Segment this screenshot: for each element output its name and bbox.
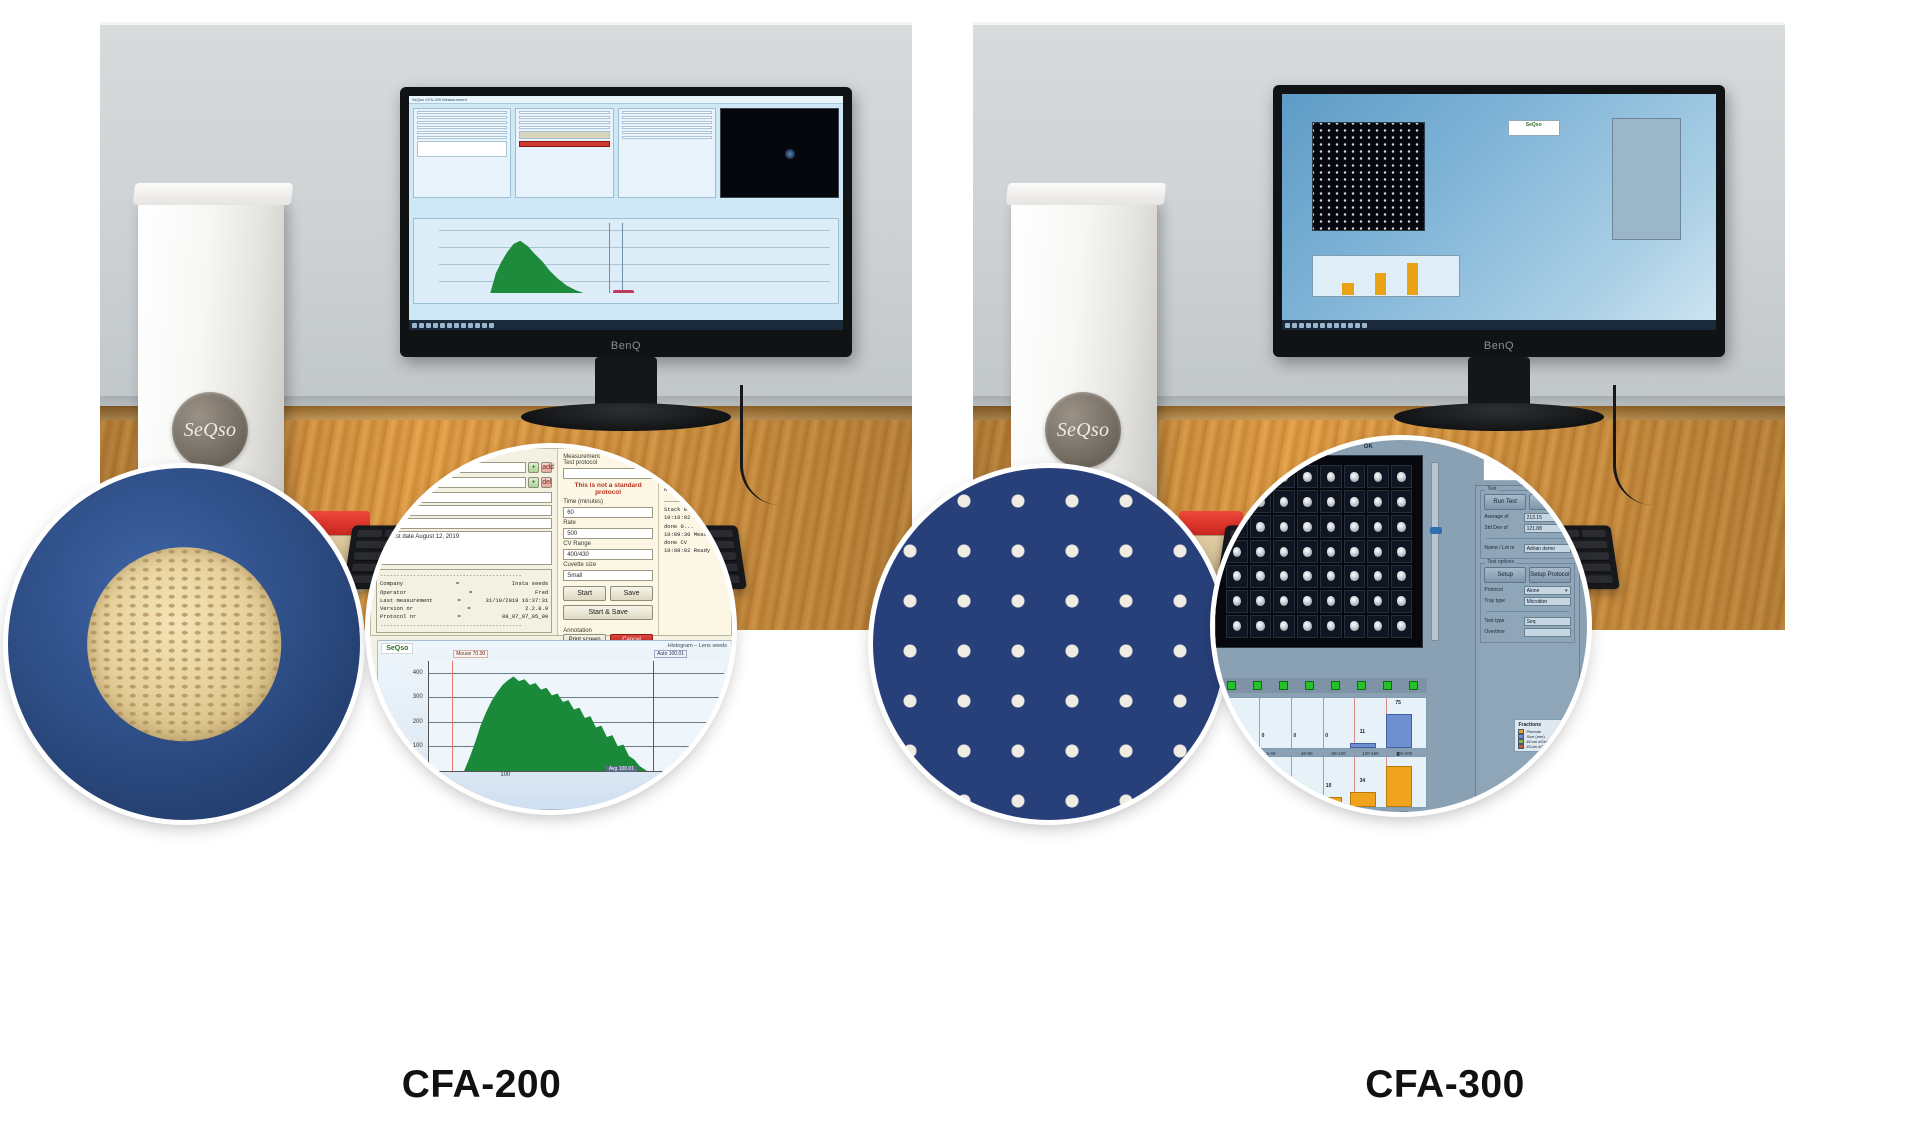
- remove-icon[interactable]: add: [541, 462, 552, 473]
- status-key: Company: [380, 580, 403, 588]
- status-sep: =: [457, 613, 460, 621]
- rate-field[interactable]: 500: [563, 528, 653, 539]
- status-value: Insta seeds: [512, 580, 548, 588]
- average-label: Average of: [1484, 514, 1520, 520]
- average-row: Average of 213.15: [1484, 513, 1570, 522]
- status-bar-line: 10:09:30 Measure done CV: [664, 531, 726, 548]
- status-sep: =: [457, 597, 460, 605]
- size-distribution-chart: 0 0 0 11 75 0 2-40 40-80 80-120 120-160 …: [1226, 697, 1427, 749]
- status-led: [1253, 681, 1262, 690]
- status-row: Last measurement = 31/10/2019 16:37:31: [380, 597, 548, 605]
- seqso-logo-icon: SeQso: [1483, 447, 1580, 480]
- monitor-screen: SeQso CFA-200 Measurement: [409, 96, 843, 330]
- average-annotation: Avg 100.01: [606, 766, 637, 772]
- monitor-cable: [740, 385, 870, 505]
- y-tick: 400: [413, 670, 423, 676]
- overtime-label: Overtime: [1484, 629, 1520, 635]
- chart-title: Histogram – Lens seeds: [668, 643, 727, 649]
- operator-stepper-row[interactable]: Fred + del: [376, 475, 552, 490]
- time-label: Time (minutes): [563, 499, 653, 505]
- ok-label: OK: [1364, 444, 1373, 450]
- mouse-cursor-marker[interactable]: Mouse 70.00: [452, 661, 453, 771]
- status-key: Protocol nr: [380, 613, 416, 621]
- y-tick: 100: [413, 743, 423, 749]
- test-group: Test Run Test Repeat Average of 213.15 S…: [1480, 490, 1574, 559]
- protocol-label: Protocol: [1484, 587, 1520, 593]
- group-divider: [1486, 538, 1568, 539]
- well-cell-grid[interactable]: [1226, 465, 1412, 637]
- germination-distribution-chart: 2 7 10 34 8 0-2 2-4 4-8 8-11 11-20 >20: [1226, 756, 1427, 808]
- overtime-row: Overtime: [1484, 628, 1570, 637]
- overtime-field[interactable]: [1524, 628, 1571, 637]
- inset-tray-closeup-cfa-300: [873, 468, 1225, 820]
- y-axis-title: Number: [386, 714, 392, 735]
- monitor-cable: [1613, 385, 1743, 505]
- cv-range-field[interactable]: 400/430: [563, 549, 653, 560]
- monitor-cfa-200: SeQso CFA-200 Measurement: [400, 87, 852, 357]
- bar-value-label: 11: [1360, 729, 1365, 735]
- caption-cfa-200: CFA-200: [0, 1063, 963, 1107]
- software-screen-cfa-200[interactable]: SeQso CFA-200 Measurement: [409, 96, 843, 330]
- bar: [1283, 804, 1309, 807]
- company-field[interactable]: Insta seeds: [376, 462, 526, 473]
- stddev-label: Std Dev of: [1484, 525, 1520, 531]
- x-tick: 4-8: [1303, 810, 1310, 812]
- add-row-icon[interactable]: +: [528, 477, 539, 488]
- monitor-screen: SeQso: [1282, 94, 1716, 330]
- inset-software-closeup-cfa-200: Sample Insta seeds + add Fred + del LEN …: [370, 448, 732, 810]
- test-protocol-label: Test protocol: [563, 460, 653, 466]
- monitor-cfa-300: SeQso BenQ: [1273, 85, 1725, 357]
- protocol-warning: This is not a standard protocol: [563, 482, 653, 496]
- brand-badge-label: SeQso: [184, 419, 237, 442]
- bar-value-label: 0: [1325, 733, 1328, 739]
- setup-button[interactable]: Setup: [1484, 567, 1526, 583]
- info-lines: Avg 4 Min CV Max CV Number: [664, 460, 726, 495]
- status-sep: =: [456, 580, 459, 588]
- status-led: [1279, 681, 1288, 690]
- bar-value-label: 0: [1293, 733, 1296, 739]
- rate-label: Rate: [563, 520, 653, 526]
- protocol-row: Protocol Alone: [1484, 586, 1570, 595]
- cv-range-label: CV Range: [563, 541, 653, 547]
- x-tick: >20: [1400, 810, 1408, 812]
- status-led: [1409, 681, 1418, 690]
- status-row: Operator = Fred: [380, 589, 548, 597]
- seqso-logo-icon: SeQso: [1508, 120, 1560, 137]
- y-tick: 200: [413, 719, 423, 725]
- status-summary-block: ----------------------------------------…: [376, 569, 552, 633]
- legend-title: Fractions: [1518, 722, 1573, 728]
- y-tick: 300: [413, 694, 423, 700]
- control-panel[interactable]: [1612, 118, 1681, 241]
- start-button[interactable]: Start: [563, 586, 606, 601]
- auto-threshold-marker[interactable]: Auto 100.01: [653, 661, 654, 771]
- bar-value-label: 2: [1262, 792, 1265, 798]
- zoom-slider[interactable]: [1431, 462, 1439, 641]
- status-value: 2.2.8.9: [525, 605, 548, 613]
- info-line: Avg 4: [664, 461, 726, 469]
- tray-type-field[interactable]: Microtiter: [1524, 597, 1571, 606]
- app-histogram: [413, 218, 839, 304]
- app-measurement-card[interactable]: [515, 108, 613, 198]
- software-form: Sample Insta seeds + add Fred + del LEN …: [370, 448, 732, 636]
- status-led: [1331, 681, 1340, 690]
- delete-row-icon[interactable]: del: [541, 477, 552, 488]
- app-sample-card[interactable]: [413, 108, 511, 198]
- monitor-foot: [1394, 403, 1604, 431]
- figure-root: SeQso SeQso CFA-200 Measurement: [0, 0, 1927, 1135]
- test-protocol-select[interactable]: [563, 468, 653, 479]
- group-divider: [1486, 611, 1568, 612]
- status-sep: =: [469, 589, 472, 597]
- histogram-plot: 400 300 200 100 Mouse 70.00 Auto 100.01 …: [428, 661, 724, 772]
- windows-taskbar[interactable]: [1282, 320, 1716, 330]
- variety-field[interactable]: LEN: [376, 492, 552, 503]
- well-thumbnail-grid[interactable]: [1312, 122, 1425, 231]
- test-control-panel: Test Run Test Repeat Average of 213.15 S…: [1475, 485, 1579, 805]
- start-and-save-button[interactable]: Start & Save: [563, 605, 653, 620]
- camera-preview: [720, 108, 839, 198]
- brand-badge-label: SeQso: [1057, 419, 1110, 442]
- status-led-strip: [1219, 678, 1427, 693]
- status-key: Version nr: [380, 605, 413, 613]
- status-sep: =: [467, 605, 470, 613]
- histogram-outlier-series: [691, 766, 718, 771]
- status-bar-line: 10:10:02 Measure done 0...: [664, 514, 726, 531]
- windows-taskbar[interactable]: [409, 320, 843, 330]
- test-type-label: Test type: [1484, 618, 1520, 624]
- setup-button-row: Setup Setup Protocol: [1484, 567, 1570, 583]
- status-value: 08_07_07_05_09: [502, 613, 548, 621]
- bar: [1386, 766, 1412, 807]
- x-tick: 100: [500, 772, 510, 778]
- status-bar-line: Stack 00: [664, 506, 726, 514]
- bar: [1386, 714, 1412, 748]
- monitor-foot: [521, 403, 731, 431]
- slider-thumb[interactable]: [1430, 527, 1442, 534]
- time-field[interactable]: 60: [563, 507, 653, 518]
- status-bar-lines: Stack 00 10:10:02 Measure done 0... 10:0…: [664, 505, 726, 557]
- well-image-panel[interactable]: [1215, 455, 1423, 648]
- x-tick: 0-2: [1236, 810, 1243, 812]
- x-tick: 11-20: [1365, 810, 1376, 812]
- tray-type-row: Tray type Microtiter: [1484, 597, 1570, 606]
- save-button[interactable]: Save: [610, 586, 653, 601]
- test-type-field[interactable]: Seq: [1524, 617, 1571, 626]
- protocol-select[interactable]: Alone: [1524, 586, 1571, 595]
- info-line: Min CV: [664, 469, 726, 477]
- status-key: Last measurement: [380, 597, 433, 605]
- test-type-row: Test type Seq: [1484, 617, 1570, 626]
- status-row: Company = Insta seeds: [380, 580, 548, 588]
- legend-swatch: [1518, 744, 1524, 749]
- instrument-top-cover: [133, 183, 293, 205]
- x-tick: 2-4: [1268, 810, 1275, 812]
- x-tick: 8-11: [1334, 810, 1343, 812]
- status-led: [1305, 681, 1314, 690]
- name-lot-label: Name / Lot nr: [1484, 545, 1520, 551]
- status-value: 31/10/2019 16:37:31: [485, 597, 548, 605]
- caption-cfa-300: CFA-300: [963, 1063, 1927, 1107]
- status-row: Protocol nr = 08_07_07_05_09: [380, 613, 548, 621]
- app-info-card: [618, 108, 716, 198]
- inset-software-closeup-cfa-300: OK SeQso Test Run Test: [1215, 440, 1587, 812]
- bar: [1350, 792, 1376, 807]
- fractions-legend: Fractions Plumule Size (mm) #Cum #Germ #…: [1514, 719, 1577, 752]
- status-bar-line: 10:08:02 Ready: [664, 547, 726, 555]
- inset-sample-closeup-cfa-200: [8, 468, 360, 820]
- setup-protocol-button[interactable]: Setup Protocol: [1529, 567, 1571, 583]
- x-tick: 120-160: [1362, 751, 1379, 756]
- name-lot-row: Name / Lot nr Adrian demo: [1484, 544, 1570, 553]
- status-divider-bottom: ----------------------------------------…: [380, 622, 548, 630]
- bar-value-label: 10: [1326, 783, 1332, 789]
- run-test-button[interactable]: Run Test: [1484, 494, 1526, 510]
- histogram-window: SeQso Histogram – Lens seeds Number 400 …: [377, 640, 732, 810]
- info-line: Max CV: [664, 478, 726, 486]
- stddev-value[interactable]: 121.88: [1524, 524, 1571, 533]
- monitor-brand-label: BenQ: [611, 340, 641, 352]
- test-group-label: Test: [1485, 486, 1498, 492]
- status-led: [1227, 681, 1236, 690]
- test-options-group-label: Test options: [1485, 559, 1516, 565]
- histogram-main-series: [464, 676, 647, 771]
- software-screen-cfa-300[interactable]: SeQso: [1282, 94, 1716, 330]
- bar-value-label: 0: [1262, 733, 1265, 739]
- action-button-row: Start Save: [563, 586, 653, 601]
- comment-field[interactable]: Harvest date August 12, 2019: [376, 531, 552, 565]
- app-top-region: [409, 104, 843, 202]
- average-value[interactable]: 213.15: [1524, 513, 1571, 522]
- x-tick: 2-40: [1266, 751, 1275, 756]
- x-tick: 40-80: [1301, 751, 1313, 756]
- operator-field[interactable]: Fred: [376, 477, 526, 488]
- status-led: [1357, 681, 1366, 690]
- status-divider-top: ----------------------------------------…: [380, 572, 548, 580]
- seqso-logo-icon: SeQso: [381, 643, 413, 654]
- info-line: Number: [664, 486, 726, 494]
- add-icon[interactable]: +: [528, 462, 539, 473]
- instrument-top-cover: [1006, 183, 1166, 205]
- x-tick: 80-120: [1332, 751, 1346, 756]
- info-divider: [664, 501, 726, 502]
- monitor-brand-label: BenQ: [1484, 340, 1514, 352]
- crop-field[interactable]: Lens seeds: [376, 505, 552, 516]
- cuvette-size-field[interactable]: Small: [563, 570, 653, 581]
- bar-value-label: 75: [1395, 700, 1401, 706]
- mouse-marker-label: Mouse 70.00: [453, 650, 488, 658]
- bar-value-label: 34: [1360, 778, 1366, 784]
- legend-item: #Cum #Germ (mm): [1518, 744, 1573, 749]
- repeat-button[interactable]: Repeat: [1529, 494, 1571, 510]
- brand-badge: SeQso: [172, 392, 248, 468]
- x-tick: 0: [1238, 751, 1241, 756]
- cuvette-size-label: Cuvette size: [563, 562, 653, 568]
- year-field[interactable]: Past: [376, 518, 552, 529]
- bar-value-label: 8: [1397, 752, 1400, 758]
- tray-type-label: Tray type: [1484, 598, 1520, 604]
- bar: [1317, 797, 1343, 807]
- panel-cfa-200: SeQso SeQso CFA-200 Measurement: [0, 0, 963, 1135]
- status-led: [1383, 681, 1392, 690]
- info-column: Info Avg 4 Min CV Max CV Number Stack 00…: [659, 449, 731, 635]
- variety-stepper-row[interactable]: Insta seeds + add: [376, 460, 552, 475]
- brand-badge: SeQso: [1045, 392, 1121, 468]
- seed-pile: [87, 547, 281, 741]
- stddev-row: Std Dev of 121.88: [1484, 524, 1570, 533]
- measurement-column: Measurement Test protocol This is not a …: [558, 449, 659, 635]
- name-lot-field[interactable]: Adrian demo: [1524, 544, 1571, 553]
- test-options-group: Test options Setup Setup Protocol Protoc…: [1480, 563, 1574, 643]
- auto-marker-label: Auto 100.01: [654, 650, 687, 658]
- status-row: Version nr = 2.2.8.9: [380, 605, 548, 613]
- sample-column: Sample Insta seeds + add Fred + del LEN …: [371, 449, 558, 635]
- status-value: Fred: [535, 589, 548, 597]
- status-key: Operator: [380, 589, 406, 597]
- bar-value-label: 7: [1293, 790, 1296, 796]
- result-bar-chart: [1312, 255, 1460, 297]
- bar: [1350, 743, 1376, 748]
- panel-cfa-300: SeQso SeQso: [963, 0, 1927, 1135]
- legend-label: #Cum #Germ (mm): [1526, 744, 1560, 749]
- test-button-row: Run Test Repeat: [1484, 494, 1570, 510]
- app-title-bar: SeQso CFA-200 Measurement: [409, 96, 843, 104]
